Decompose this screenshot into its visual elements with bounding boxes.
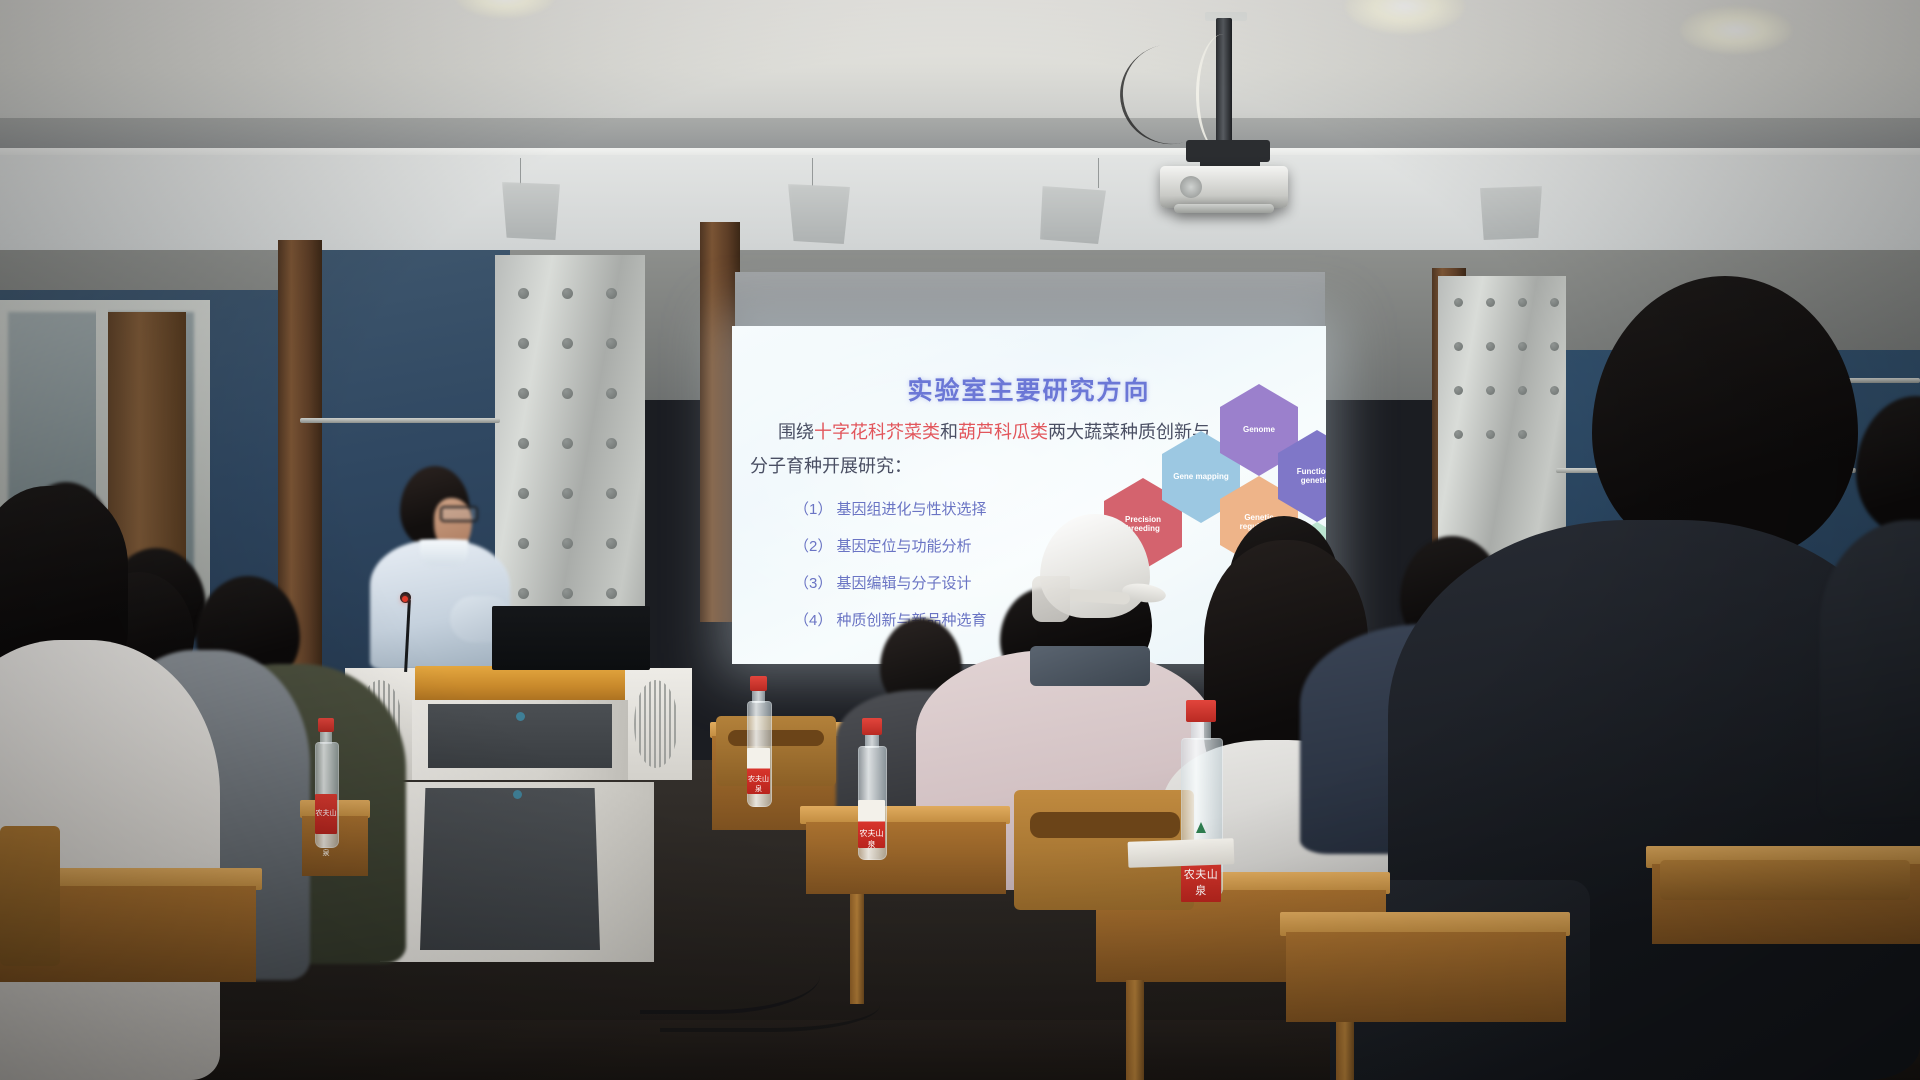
floor-cable-2 <box>660 978 880 1032</box>
presenter-glasses <box>440 506 478 522</box>
ceiling-speaker-panel <box>1040 186 1106 244</box>
hexagon-genome-label: Genome <box>1243 425 1275 434</box>
bottle-label: 农夫山泉 <box>315 794 337 834</box>
bottle-brand-text: 农夫山泉 <box>315 794 337 874</box>
desk-front-far <box>1286 932 1566 1022</box>
ceiling-speaker-panel <box>502 182 560 240</box>
desk-leg <box>1126 980 1144 1080</box>
hexagon-functional-genetics-label: Functional genetics <box>1286 467 1326 485</box>
paragraph-line1-post: 两大蔬菜种质创新与 <box>1048 422 1210 442</box>
slide-list-item-3: （3） 基因编辑与分子设计 <box>794 572 972 593</box>
list-item-4-number: （4） <box>794 612 832 629</box>
list-item-1-number: （1） <box>794 501 832 518</box>
chair-backrest-slot <box>1030 812 1180 838</box>
desk-front <box>806 822 1006 894</box>
list-item-2-number: （2） <box>794 538 832 555</box>
paper-on-desk <box>1128 838 1235 868</box>
bottle-brand-text: 农夫山泉 <box>858 800 885 850</box>
bottle-mountain-logo-icon <box>1196 822 1206 833</box>
paragraph-highlight-brassica: 十字花科芥菜类 <box>814 422 940 442</box>
screen-housing <box>735 272 1325 330</box>
bottle-label: 农夫山泉 <box>858 800 885 848</box>
paragraph-line1-mid: 和 <box>940 422 958 442</box>
list-item-2-text: 基因定位与功能分析 <box>837 538 972 555</box>
ceiling-speaker-panel <box>788 184 850 244</box>
slide-list-item-4: （4） 种质创新与新品种选育 <box>794 609 987 630</box>
podium-upper-knob <box>516 712 525 721</box>
wall-rail-left <box>300 418 500 423</box>
ceiling-speaker-panel <box>1480 186 1542 240</box>
panel-suspension-wire <box>520 158 521 186</box>
bottle-cap <box>862 718 882 735</box>
chair-left[interactable] <box>716 716 836 786</box>
bottle-cap <box>1186 700 1216 722</box>
projector-foot <box>1174 204 1274 213</box>
slide-paragraph-line1: 围绕十字花科芥菜类和葫芦科瓜类两大蔬菜种质创新与 <box>778 418 1210 444</box>
chair-fg-left[interactable] <box>0 826 60 966</box>
speaker-grill-right-icon <box>634 680 678 768</box>
list-item-1-text: 基因组进化与性状选择 <box>837 501 987 518</box>
list-item-3-text: 基因编辑与分子设计 <box>837 575 972 592</box>
podium-lower-knob <box>513 790 522 799</box>
face-mask <box>1032 576 1070 622</box>
person-white-cap-collar <box>1030 646 1150 686</box>
bottle-brand-text: 农夫山泉 <box>747 748 770 794</box>
panel-suspension-wire <box>812 158 813 186</box>
bottle-cap <box>318 718 334 732</box>
projector-lens <box>1180 176 1202 198</box>
lecture-hall-photo: 实验室主要研究方向 围绕十字花科芥菜类和葫芦科瓜类两大蔬菜种质创新与 分子育种开… <box>0 0 1920 1080</box>
podium-wooden-top <box>415 666 625 702</box>
paragraph-line1-pre: 围绕 <box>778 422 814 442</box>
podium-lower-front-panel <box>420 788 600 950</box>
projector-cable <box>1196 34 1251 154</box>
podium-monitor[interactable] <box>492 606 650 670</box>
slide-paragraph-line2: 分子育种开展研究： <box>750 452 912 478</box>
chair-backrest-slot <box>728 730 824 746</box>
paragraph-highlight-cucurbit: 葫芦科瓜类 <box>958 422 1048 442</box>
list-item-3-number: （3） <box>794 575 832 592</box>
panel-suspension-wire <box>1098 158 1099 188</box>
person-far-right-body <box>1820 520 1920 820</box>
hexagon-gene-mapping-label: Gene mapping <box>1173 472 1229 481</box>
presenter-collar <box>420 540 468 566</box>
bottle-label: 农夫山泉 <box>747 748 770 794</box>
ceiling-downlight <box>1680 6 1792 54</box>
slide-list-item-2: （2） 基因定位与功能分析 <box>794 535 972 556</box>
wall-rail-far-right <box>1840 378 1920 383</box>
slide-list-item-1: （1） 基因组进化与性状选择 <box>794 498 987 519</box>
bottle-cap <box>750 676 767 691</box>
chair-fg-right[interactable] <box>1660 860 1910 900</box>
microphone-led-icon <box>402 596 408 602</box>
